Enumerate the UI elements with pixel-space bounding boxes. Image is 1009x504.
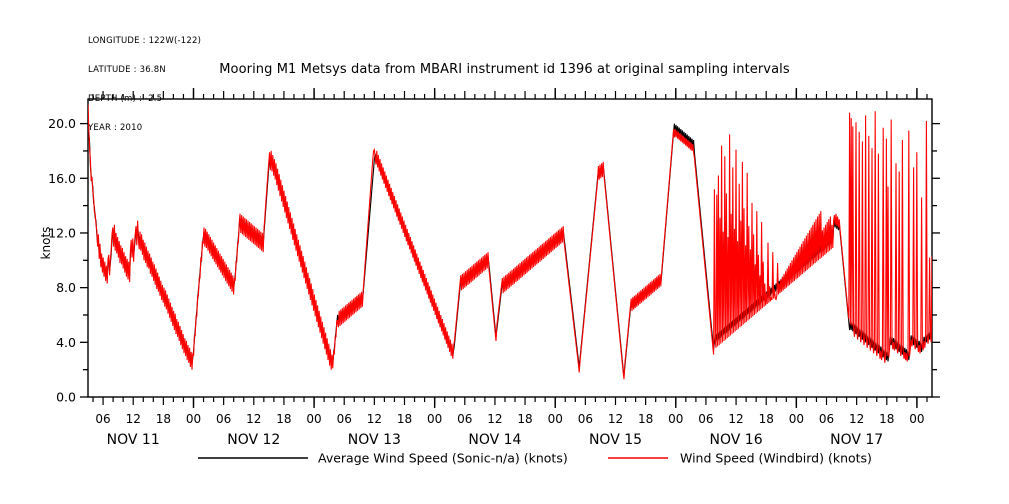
x-hour-label: 00 [789,412,804,426]
x-hour-label: 18 [638,412,653,426]
x-hour-label: 12 [487,412,502,426]
x-hour-label: 18 [517,412,532,426]
x-hour-label: 12 [126,412,141,426]
y-tick-label: 4.0 [56,335,76,350]
x-day-label: NOV 11 [107,432,160,448]
x-hour-label: 06 [216,412,231,426]
x-hour-label: 18 [759,412,774,426]
x-hour-label: 00 [186,412,201,426]
chart-canvas: 0.04.08.012.016.020.00612180006121800061… [0,0,1009,504]
x-day-label: NOV 13 [348,432,401,448]
x-hour-label: 18 [397,412,412,426]
x-hour-label: 06 [698,412,713,426]
legend-label-sonic: Average Wind Speed (Sonic-n/a) (knots) [318,451,568,466]
x-hour-label: 12 [246,412,261,426]
x-hour-label: 12 [367,412,382,426]
x-hour-label: 06 [337,412,352,426]
x-hour-label: 06 [578,412,593,426]
x-day-label: NOV 17 [830,432,883,448]
x-day-label: NOV 14 [468,432,521,448]
x-hour-label: 18 [276,412,291,426]
x-hour-label: 06 [95,412,110,426]
series-line-windbird [88,104,932,379]
x-hour-label: 00 [909,412,924,426]
x-hour-label: 06 [457,412,472,426]
y-tick-label: 16.0 [48,171,76,186]
x-hour-label: 00 [427,412,442,426]
y-tick-label: 0.0 [56,390,76,405]
x-hour-label: 00 [306,412,321,426]
x-hour-label: 00 [668,412,683,426]
x-hour-label: 18 [879,412,894,426]
y-tick-label: 20.0 [48,116,76,131]
y-tick-label: 8.0 [56,280,76,295]
x-hour-label: 12 [728,412,743,426]
chart-figure: LONGITUDE : 122W(-122) LATITUDE : 36.8N … [0,0,1009,504]
x-hour-label: 12 [608,412,623,426]
x-hour-label: 00 [548,412,563,426]
legend-label-windbird: Wind Speed (Windbird) (knots) [680,451,872,466]
x-day-label: NOV 15 [589,432,642,448]
x-hour-label: 12 [849,412,864,426]
x-day-label: NOV 16 [710,432,763,448]
x-day-label: NOV 12 [227,432,280,448]
x-hour-label: 18 [156,412,171,426]
x-hour-label: 06 [819,412,834,426]
y-tick-label: 12.0 [48,225,76,240]
